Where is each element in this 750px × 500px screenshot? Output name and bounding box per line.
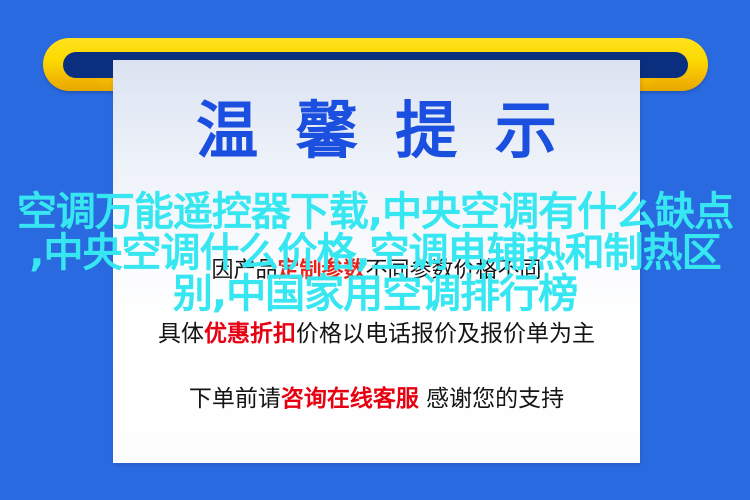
notice-line-3-emphasis: 咨询在线客服 <box>281 386 419 412</box>
notice-line-3-seg-3: 感谢您的支持 <box>419 386 564 412</box>
notice-line-1: 因产品定制参数不同参数价格不同 <box>113 258 640 283</box>
notice-card: 温 馨 提 示 因产品定制参数不同参数价格不同 具体优惠折扣价格以电话报价及报价… <box>113 60 640 463</box>
notice-body: 因产品定制参数不同参数价格不同 具体优惠折扣价格以电话报价及报价单为主 下单前请… <box>113 258 640 412</box>
notice-line-2: 具体优惠折扣价格以电话报价及报价单为主 <box>113 321 640 347</box>
poster-canvas: 温 馨 提 示 因产品定制参数不同参数价格不同 具体优惠折扣价格以电话报价及报价… <box>0 0 750 500</box>
page-title: 温 馨 提 示 <box>113 100 640 162</box>
notice-line-1-seg-1: 因产品 <box>211 258 277 283</box>
notice-line-2-seg-1: 具体 <box>158 321 204 347</box>
notice-line-2-emphasis: 优惠折扣 <box>204 321 296 347</box>
notice-line-1-seg-3: 不同参数价格不同 <box>366 258 542 283</box>
notice-line-3-seg-1: 下单前请 <box>189 386 281 412</box>
notice-line-2-seg-3: 价格以电话报价及报价单为主 <box>296 321 595 347</box>
notice-line-3: 下单前请咨询在线客服 感谢您的支持 <box>113 386 640 412</box>
notice-line-1-emphasis: 定制参数 <box>277 258 365 283</box>
